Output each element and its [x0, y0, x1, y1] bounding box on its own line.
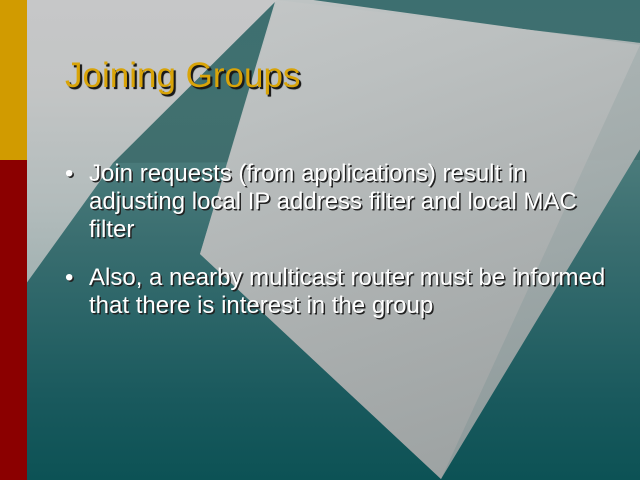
slide-content: Joining Groups • Join requests (from app…: [27, 0, 640, 480]
bullet-icon: •: [65, 160, 89, 188]
list-item-text: Also, a nearby multicast router must be …: [89, 264, 610, 320]
list-item: • Also, a nearby multicast router must b…: [65, 264, 610, 320]
left-accent-bar: [0, 0, 27, 480]
page-title: Joining Groups: [65, 56, 300, 96]
presentation-slide: Joining Groups • Join requests (from app…: [0, 0, 640, 480]
accent-bar-gold: [0, 0, 27, 160]
accent-bar-maroon: [0, 160, 27, 480]
list-item: • Join requests (from applications) resu…: [65, 160, 610, 244]
list-item-text: Join requests (from applications) result…: [89, 160, 610, 244]
bullet-icon: •: [65, 264, 89, 292]
bullet-list: • Join requests (from applications) resu…: [65, 160, 610, 340]
